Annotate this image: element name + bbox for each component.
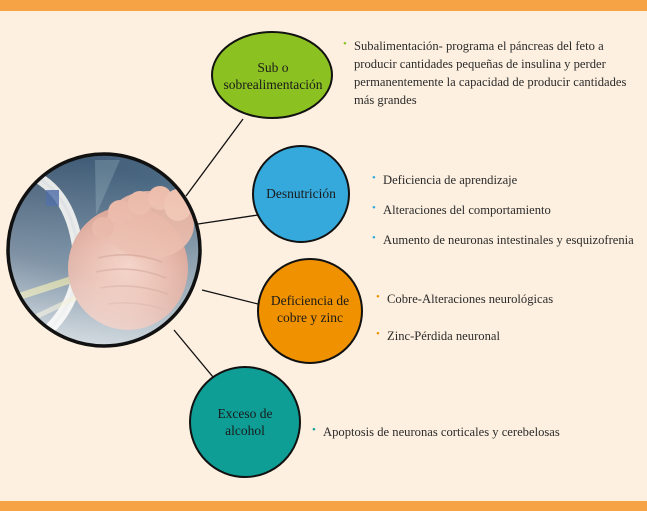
connector-to-blue [198,215,258,224]
node-circle-blue[interactable] [253,146,349,242]
node-circle-teal[interactable] [190,367,300,477]
bullet-list-blue: Deficiencia de aprendizaje Alteraciones … [372,172,647,262]
bullet-list-teal: Apoptosis de neuronas corticales y cereb… [312,424,602,445]
connector-to-teal [174,330,218,383]
bullet-item: Alteraciones del comportamiento [372,202,647,220]
bullet-item: Apoptosis de neuronas corticales y cereb… [312,424,602,442]
node-circle-green[interactable] [212,32,332,118]
bullet-item: Subalimentación- programa el páncreas de… [343,38,643,110]
bullet-list-green: Subalimentación- programa el páncreas de… [343,38,643,113]
node-circle-orange[interactable] [258,259,362,363]
slide-canvas: Sub o sobrealimentación Desnutrición Def… [0,0,647,511]
bullet-item: Zinc-Pérdida neuronal [376,328,636,346]
bullet-item: Deficiencia de aprendizaje [372,172,647,190]
bullet-list-orange: Cobre-Alteraciones neurológicas Zinc-Pér… [376,291,636,365]
bullet-item: Cobre-Alteraciones neurológicas [376,291,636,309]
connector-to-orange [202,290,262,305]
connector-to-green [186,119,243,196]
newborn-foot-photo [8,154,200,346]
bullet-item: Aumento de neuronas intestinales y esqui… [372,232,647,250]
